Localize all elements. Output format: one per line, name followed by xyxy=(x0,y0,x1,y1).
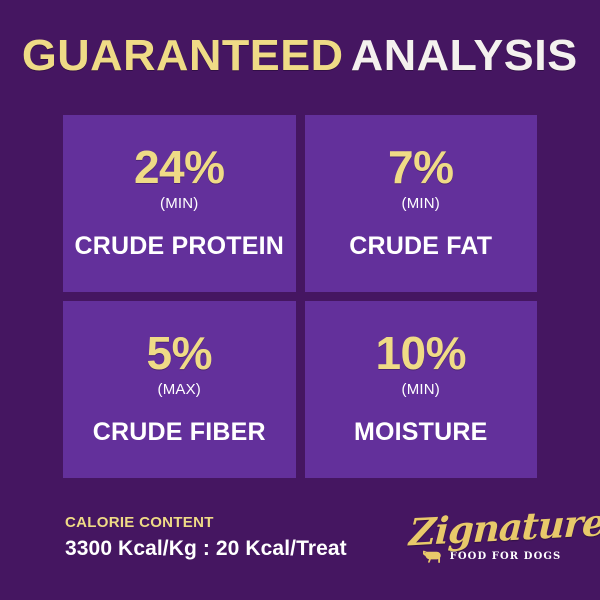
analysis-cell-crude-fat: 7% (MIN) CRUDE FAT xyxy=(305,115,538,292)
moisture-qualifier: (MIN) xyxy=(402,382,441,397)
footer: CALORIE CONTENT 3300 Kcal/Kg : 20 Kcal/T… xyxy=(0,505,600,600)
crude-protein-label: CRUDE PROTEIN xyxy=(74,234,284,259)
title-word-guaranteed: GUARANTEED xyxy=(22,34,344,78)
crude-protein-value: 24% xyxy=(134,144,225,190)
crude-fat-label: CRUDE FAT xyxy=(349,234,492,259)
page-title: GUARANTEEDANALYSIS xyxy=(0,34,600,78)
analysis-cell-crude-fiber: 5% (MAX) CRUDE FIBER xyxy=(63,301,296,478)
crude-fat-value: 7% xyxy=(388,144,453,190)
calorie-content-heading: CALORIE CONTENT xyxy=(65,515,347,530)
brand-logo: Zignature® FOOD FOR DOGS xyxy=(409,509,574,563)
analysis-cell-crude-protein: 24% (MIN) CRUDE PROTEIN xyxy=(63,115,296,292)
analysis-cell-moisture: 10% (MIN) MOISTURE xyxy=(305,301,538,478)
calorie-content-block: CALORIE CONTENT 3300 Kcal/Kg : 20 Kcal/T… xyxy=(65,515,347,559)
guaranteed-analysis-panel: GUARANTEEDANALYSIS 24% (MIN) CRUDE PROTE… xyxy=(0,0,600,600)
title-word-analysis: ANALYSIS xyxy=(350,34,577,78)
moisture-label: MOISTURE xyxy=(354,420,488,445)
brand-tagline: FOOD FOR DOGS xyxy=(450,552,562,562)
brand-wordmark: Zignature® xyxy=(408,504,600,552)
crude-fiber-qualifier: (MAX) xyxy=(158,382,202,397)
analysis-grid: 24% (MIN) CRUDE PROTEIN 7% (MIN) CRUDE F… xyxy=(63,115,537,478)
brand-wordmark-text: Zignature xyxy=(408,500,600,554)
moisture-value: 10% xyxy=(375,330,466,376)
calorie-content-value: 3300 Kcal/Kg : 20 Kcal/Treat xyxy=(65,538,347,559)
crude-fiber-label: CRUDE FIBER xyxy=(93,420,266,445)
crude-protein-qualifier: (MIN) xyxy=(160,196,199,211)
crude-fat-qualifier: (MIN) xyxy=(402,196,441,211)
crude-fiber-value: 5% xyxy=(147,330,212,376)
